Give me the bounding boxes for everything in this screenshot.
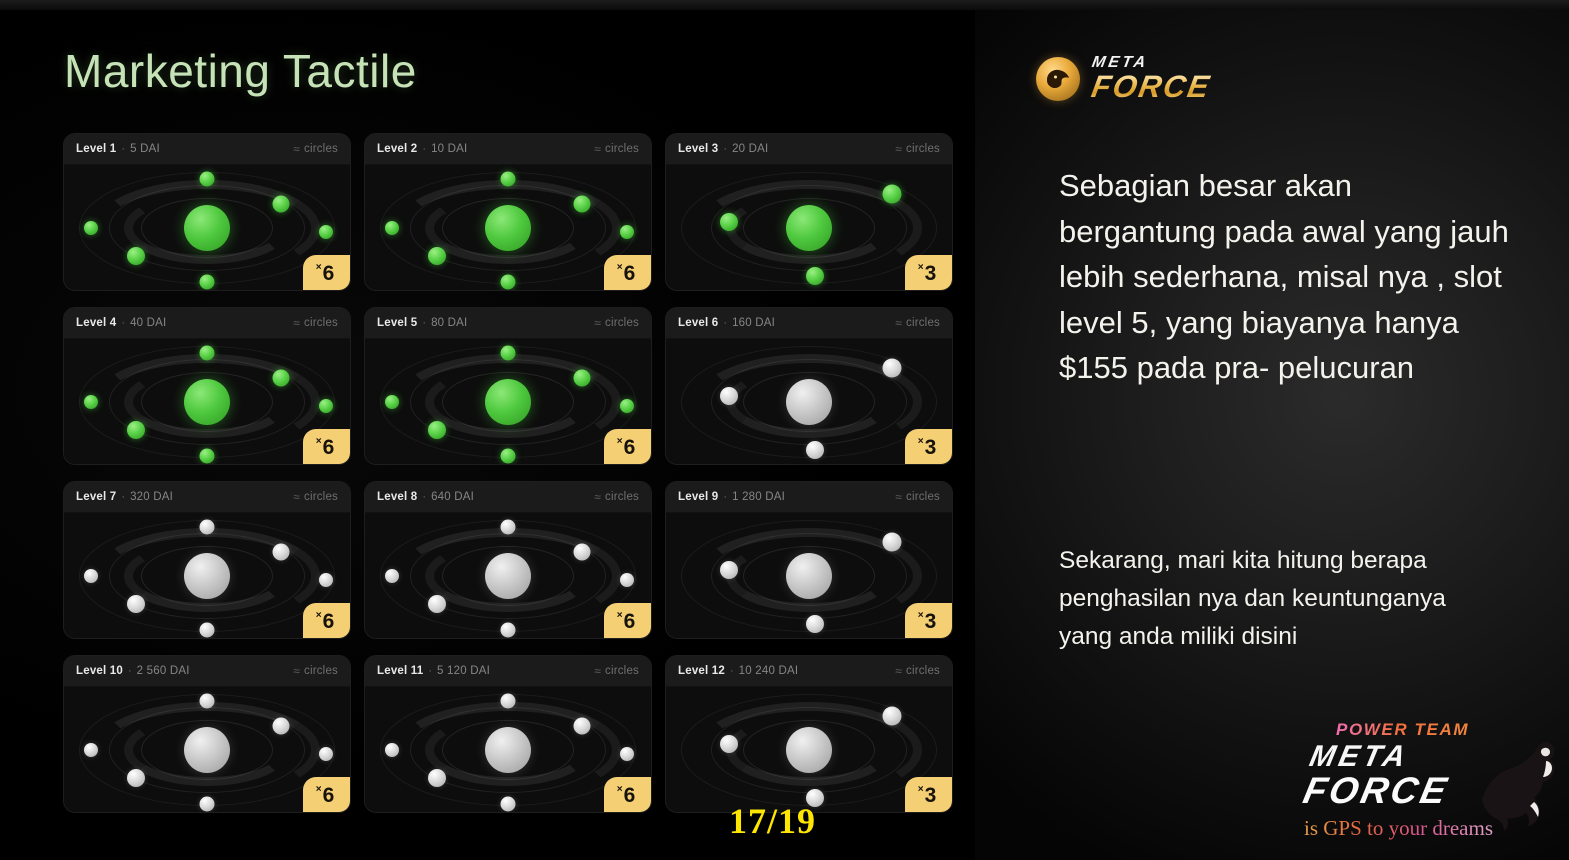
satellite-node [620, 573, 634, 587]
level-card-header: Level 4·40 DAI≈circles [64, 308, 350, 339]
satellite-node [200, 449, 215, 464]
level-separator: · [428, 665, 432, 677]
tagline-text: is GPS to your dreams [1304, 816, 1493, 841]
core-node [184, 205, 230, 251]
satellite-node [127, 247, 145, 265]
badge-count: 6 [624, 263, 636, 284]
circles-indicator: ≈circles [895, 316, 940, 330]
background-top-strip [0, 0, 1569, 10]
satellite-node [574, 544, 591, 561]
satellite-node [428, 769, 446, 787]
satellite-node [428, 247, 446, 265]
satellite-node [428, 421, 446, 439]
satellite-node [200, 797, 215, 812]
level-orbit-diagram: ×6 [365, 687, 651, 813]
circles-count-badge: ×3 [905, 429, 952, 465]
level-price: 2 560 DAI [137, 665, 190, 677]
level-card-header: Level 6·160 DAI≈circles [666, 308, 952, 339]
core-node [485, 553, 531, 599]
level-card[interactable]: Level 12·10 240 DAI≈circles×3 [665, 655, 953, 813]
level-price: 40 DAI [130, 317, 166, 329]
level-card-header: Level 1·5 DAI≈circles [64, 134, 350, 165]
core-node [485, 727, 531, 773]
level-label: Level 9 [678, 491, 718, 503]
circles-count-badge: ×3 [905, 255, 952, 291]
satellite-node [273, 544, 290, 561]
approx-icon: ≈ [594, 664, 601, 678]
level-orbit-diagram: ×6 [64, 687, 350, 813]
badge-count: 6 [323, 437, 335, 458]
level-separator: · [422, 143, 426, 155]
level-label: Level 8 [377, 491, 417, 503]
satellite-node [200, 623, 215, 638]
approx-icon: ≈ [895, 490, 902, 504]
level-card[interactable]: Level 11·5 120 DAI≈circles×6 [364, 655, 652, 813]
satellite-node [501, 275, 516, 290]
circles-indicator: ≈circles [594, 316, 639, 330]
multiply-icon: × [617, 785, 623, 795]
badge-count: 6 [624, 785, 636, 806]
level-card[interactable]: Level 8·640 DAI≈circles×6 [364, 481, 652, 639]
multiply-icon: × [918, 611, 924, 621]
multiply-icon: × [316, 611, 322, 621]
satellite-node [319, 573, 333, 587]
level-price: 10 240 DAI [739, 665, 799, 677]
circles-indicator: ≈circles [594, 142, 639, 156]
satellite-node [127, 769, 145, 787]
badge-count: 6 [624, 611, 636, 632]
circles-count-badge: ×3 [905, 603, 952, 639]
multiply-icon: × [316, 437, 322, 447]
satellite-node [720, 387, 738, 405]
satellite-node [501, 449, 516, 464]
level-separator: · [121, 317, 125, 329]
level-card-header: Level 7·320 DAI≈circles [64, 482, 350, 513]
satellite-node [385, 395, 399, 409]
level-card[interactable]: Level 9·1 280 DAI≈circles×3 [665, 481, 953, 639]
satellite-node [501, 345, 516, 360]
circles-label: circles [605, 317, 639, 329]
bottom-logo-meta-text: META [1306, 740, 1412, 774]
level-separator: · [723, 143, 727, 155]
circles-label: circles [906, 665, 940, 677]
satellite-node [84, 395, 98, 409]
level-price: 1 280 DAI [732, 491, 785, 503]
power-team-text: POWER TEAM [1336, 720, 1469, 740]
level-orbit-diagram: ×6 [64, 165, 350, 291]
level-card[interactable]: Level 1·5 DAI≈circles×6 [63, 133, 351, 291]
satellite-node [620, 225, 634, 239]
satellite-node [501, 171, 516, 186]
circles-label: circles [605, 143, 639, 155]
multiply-icon: × [316, 785, 322, 795]
core-node [184, 553, 230, 599]
circles-label: circles [304, 665, 338, 677]
satellite-node [501, 693, 516, 708]
satellite-node [273, 718, 290, 735]
core-node [485, 205, 531, 251]
level-card-header: Level 3·20 DAI≈circles [666, 134, 952, 165]
level-orbit-diagram: ×3 [666, 513, 952, 639]
satellite-node [385, 569, 399, 583]
core-node [786, 727, 832, 773]
satellite-node [720, 213, 738, 231]
satellite-node [84, 743, 98, 757]
level-orbit-diagram: ×3 [666, 339, 952, 465]
circles-indicator: ≈circles [293, 664, 338, 678]
power-team-logo: POWER TEAM META FORCE is GPS to your dre… [1296, 718, 1558, 846]
level-price: 80 DAI [431, 317, 467, 329]
circles-indicator: ≈circles [895, 490, 940, 504]
satellite-node [84, 221, 98, 235]
satellite-node [806, 267, 824, 285]
multiply-icon: × [918, 263, 924, 273]
satellite-node [200, 345, 215, 360]
satellite-node [127, 595, 145, 613]
level-separator: · [730, 665, 734, 677]
satellite-node [574, 370, 591, 387]
level-separator: · [422, 317, 426, 329]
multiply-icon: × [316, 263, 322, 273]
badge-count: 6 [323, 263, 335, 284]
level-label: Level 1 [76, 143, 116, 155]
satellite-node [319, 747, 333, 761]
level-label: Level 7 [76, 491, 116, 503]
level-separator: · [128, 665, 132, 677]
circles-label: circles [605, 491, 639, 503]
approx-icon: ≈ [293, 490, 300, 504]
level-card-header: Level 9·1 280 DAI≈circles [666, 482, 952, 513]
satellite-node [501, 623, 516, 638]
satellite-node [127, 421, 145, 439]
level-card-header: Level 2·10 DAI≈circles [365, 134, 651, 165]
satellite-node [200, 519, 215, 534]
approx-icon: ≈ [895, 316, 902, 330]
circles-label: circles [906, 143, 940, 155]
level-card-header: Level 12·10 240 DAI≈circles [666, 656, 952, 687]
circles-count-badge: ×6 [303, 255, 350, 291]
circles-indicator: ≈circles [895, 664, 940, 678]
level-orbit-diagram: ×3 [666, 687, 952, 813]
level-price: 320 DAI [130, 491, 173, 503]
multiply-icon: × [617, 263, 623, 273]
badge-count: 3 [925, 437, 937, 458]
page-title: Marketing Tactile [64, 44, 417, 98]
approx-icon: ≈ [895, 142, 902, 156]
satellite-node [200, 275, 215, 290]
circles-count-badge: ×6 [303, 429, 350, 465]
badge-count: 6 [323, 611, 335, 632]
level-card[interactable]: Level 5·80 DAI≈circles×6 [364, 307, 652, 465]
circles-label: circles [304, 491, 338, 503]
level-card-header: Level 10·2 560 DAI≈circles [64, 656, 350, 687]
satellite-node [501, 797, 516, 812]
level-separator: · [723, 491, 727, 503]
satellite-node [501, 519, 516, 534]
multiply-icon: × [918, 437, 924, 447]
level-separator: · [121, 143, 125, 155]
level-orbit-diagram: ×6 [365, 339, 651, 465]
multiply-icon: × [617, 611, 623, 621]
meta-force-logo-top: META FORCE [1036, 55, 1211, 102]
badge-count: 3 [925, 263, 937, 284]
level-orbit-diagram: ×6 [365, 513, 651, 639]
bottom-logo-force-text: FORCE [1300, 770, 1453, 812]
circles-count-badge: ×6 [604, 603, 651, 639]
circles-count-badge: ×6 [303, 603, 350, 639]
circles-indicator: ≈circles [293, 316, 338, 330]
level-separator: · [121, 491, 125, 503]
level-price: 5 120 DAI [437, 665, 490, 677]
level-card[interactable]: Level 10·2 560 DAI≈circles×6 [63, 655, 351, 813]
level-label: Level 11 [377, 665, 423, 677]
level-label: Level 6 [678, 317, 718, 329]
approx-icon: ≈ [594, 316, 601, 330]
level-separator: · [723, 317, 727, 329]
core-node [786, 379, 832, 425]
core-node [184, 379, 230, 425]
core-node [184, 727, 230, 773]
circles-count-badge: ×6 [604, 777, 651, 813]
circles-label: circles [304, 143, 338, 155]
multiply-icon: × [617, 437, 623, 447]
level-label: Level 3 [678, 143, 718, 155]
circles-indicator: ≈circles [293, 490, 338, 504]
satellite-node [273, 196, 290, 213]
core-node [485, 379, 531, 425]
level-card-header: Level 11·5 120 DAI≈circles [365, 656, 651, 687]
circles-indicator: ≈circles [594, 490, 639, 504]
level-cards-grid: Level 1·5 DAI≈circles×6Level 2·10 DAI≈ci… [63, 133, 966, 815]
satellite-node [319, 225, 333, 239]
satellite-node [620, 399, 634, 413]
level-card[interactable]: Level 3·20 DAI≈circles×3 [665, 133, 953, 291]
multiply-icon: × [918, 785, 924, 795]
logo-force-text: FORCE [1089, 71, 1213, 102]
slide-canvas: Marketing Tactile Level 1·5 DAI≈circles×… [0, 0, 1569, 860]
approx-icon: ≈ [293, 142, 300, 156]
level-orbit-diagram: ×6 [64, 339, 350, 465]
circles-indicator: ≈circles [293, 142, 338, 156]
approx-icon: ≈ [594, 142, 601, 156]
satellite-node [574, 196, 591, 213]
level-card-header: Level 8·640 DAI≈circles [365, 482, 651, 513]
satellite-node [720, 735, 738, 753]
level-price: 640 DAI [431, 491, 474, 503]
satellite-node [574, 718, 591, 735]
level-price: 5 DAI [130, 143, 160, 155]
satellite-node [882, 706, 901, 725]
level-orbit-diagram: ×6 [365, 165, 651, 291]
satellite-node [620, 747, 634, 761]
badge-count: 6 [323, 785, 335, 806]
circles-label: circles [906, 491, 940, 503]
description-paragraph-1: Sebagian besar akan bergantung pada awal… [1059, 163, 1514, 391]
satellite-node [882, 358, 901, 377]
circles-count-badge: ×6 [604, 255, 651, 291]
circles-indicator: ≈circles [895, 142, 940, 156]
level-card[interactable]: Level 7·320 DAI≈circles×6 [63, 481, 351, 639]
approx-icon: ≈ [895, 664, 902, 678]
level-orbit-diagram: ×3 [666, 165, 952, 291]
core-node [786, 205, 832, 251]
satellite-node [84, 569, 98, 583]
level-label: Level 4 [76, 317, 116, 329]
satellite-node [806, 441, 824, 459]
badge-count: 6 [624, 437, 636, 458]
level-card[interactable]: Level 6·160 DAI≈circles×3 [665, 307, 953, 465]
approx-icon: ≈ [594, 490, 601, 504]
level-price: 160 DAI [732, 317, 775, 329]
circles-label: circles [605, 665, 639, 677]
badge-count: 3 [925, 785, 937, 806]
description-paragraph-2: Sekarang, mari kita hitung berapa pengha… [1059, 542, 1479, 656]
satellite-node [273, 370, 290, 387]
level-price: 20 DAI [732, 143, 768, 155]
satellite-node [385, 221, 399, 235]
level-label: Level 12 [678, 665, 725, 677]
approx-icon: ≈ [293, 316, 300, 330]
circles-count-badge: ×3 [905, 777, 952, 813]
satellite-node [428, 595, 446, 613]
page-number: 17/19 [729, 800, 816, 842]
satellite-node [385, 743, 399, 757]
level-label: Level 10 [76, 665, 123, 677]
level-label: Level 5 [377, 317, 417, 329]
satellite-node [882, 184, 901, 203]
satellite-node [806, 615, 824, 633]
level-card[interactable]: Level 2·10 DAI≈circles×6 [364, 133, 652, 291]
panther-emblem-icon [1036, 57, 1080, 101]
badge-count: 3 [925, 611, 937, 632]
level-orbit-diagram: ×6 [64, 513, 350, 639]
level-label: Level 2 [377, 143, 417, 155]
circles-label: circles [906, 317, 940, 329]
level-card-header: Level 5·80 DAI≈circles [365, 308, 651, 339]
satellite-node [200, 693, 215, 708]
level-card[interactable]: Level 4·40 DAI≈circles×6 [63, 307, 351, 465]
level-separator: · [422, 491, 426, 503]
satellite-node [319, 399, 333, 413]
circles-indicator: ≈circles [594, 664, 639, 678]
circles-count-badge: ×6 [303, 777, 350, 813]
satellite-node [720, 561, 738, 579]
approx-icon: ≈ [293, 664, 300, 678]
satellite-node [200, 171, 215, 186]
satellite-node [882, 532, 901, 551]
core-node [786, 553, 832, 599]
circles-count-badge: ×6 [604, 429, 651, 465]
circles-label: circles [304, 317, 338, 329]
level-price: 10 DAI [431, 143, 467, 155]
